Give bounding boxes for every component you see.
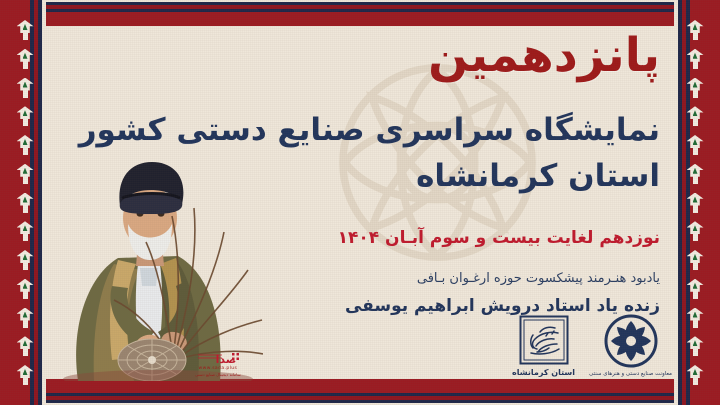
sada-logo-icon: صدا	[196, 352, 240, 365]
page-title-ordinal: پانزدهمین	[428, 28, 660, 83]
ministry-logo-block: استان کرمانشاه	[512, 315, 575, 377]
logo-row: معاونت صنایع دستی و هنرهای سنتی استان کر…	[512, 314, 672, 377]
sada-url: www.sada.plus	[199, 366, 238, 371]
exhibition-poster: پانزدهمین نمایشگاه سراسری صنایع دستی کشو…	[0, 0, 720, 405]
artisan-weaving-basket-photo	[48, 146, 263, 381]
rosette-logo-icon	[604, 314, 658, 368]
event-date-line: نوزدهم لغایت بیست و سوم آبـان ۱۴۰۴	[338, 228, 660, 248]
ministry-logo-caption: استان کرمانشاه	[512, 368, 575, 377]
handicrafts-logo-caption: معاونت صنایع دستی و هنرهای سنتی	[589, 371, 672, 377]
page-title-line3: استان کرمانشاه	[416, 158, 660, 194]
tribute-line-2: زنده یاد استاد درویش ابراهیم یوسفی	[345, 296, 660, 316]
handicrafts-logo-block: معاونت صنایع دستی و هنرهای سنتی	[589, 314, 672, 377]
sada-subtitle: سامانه دیجیتال صنایع دستی	[195, 372, 241, 377]
ministry-calligraphy-logo-icon	[519, 315, 569, 365]
page-title-line2: نمایشگاه سراسری صنایع دستی کشور	[79, 112, 660, 148]
sada-logo: صدا www.sada.plus سامانه دیجیتال صنایع د…	[195, 352, 241, 377]
tribute-line-1: یادبود هنـرمند پیشکسوت حوزه ارغـوان بـاف…	[417, 271, 660, 286]
